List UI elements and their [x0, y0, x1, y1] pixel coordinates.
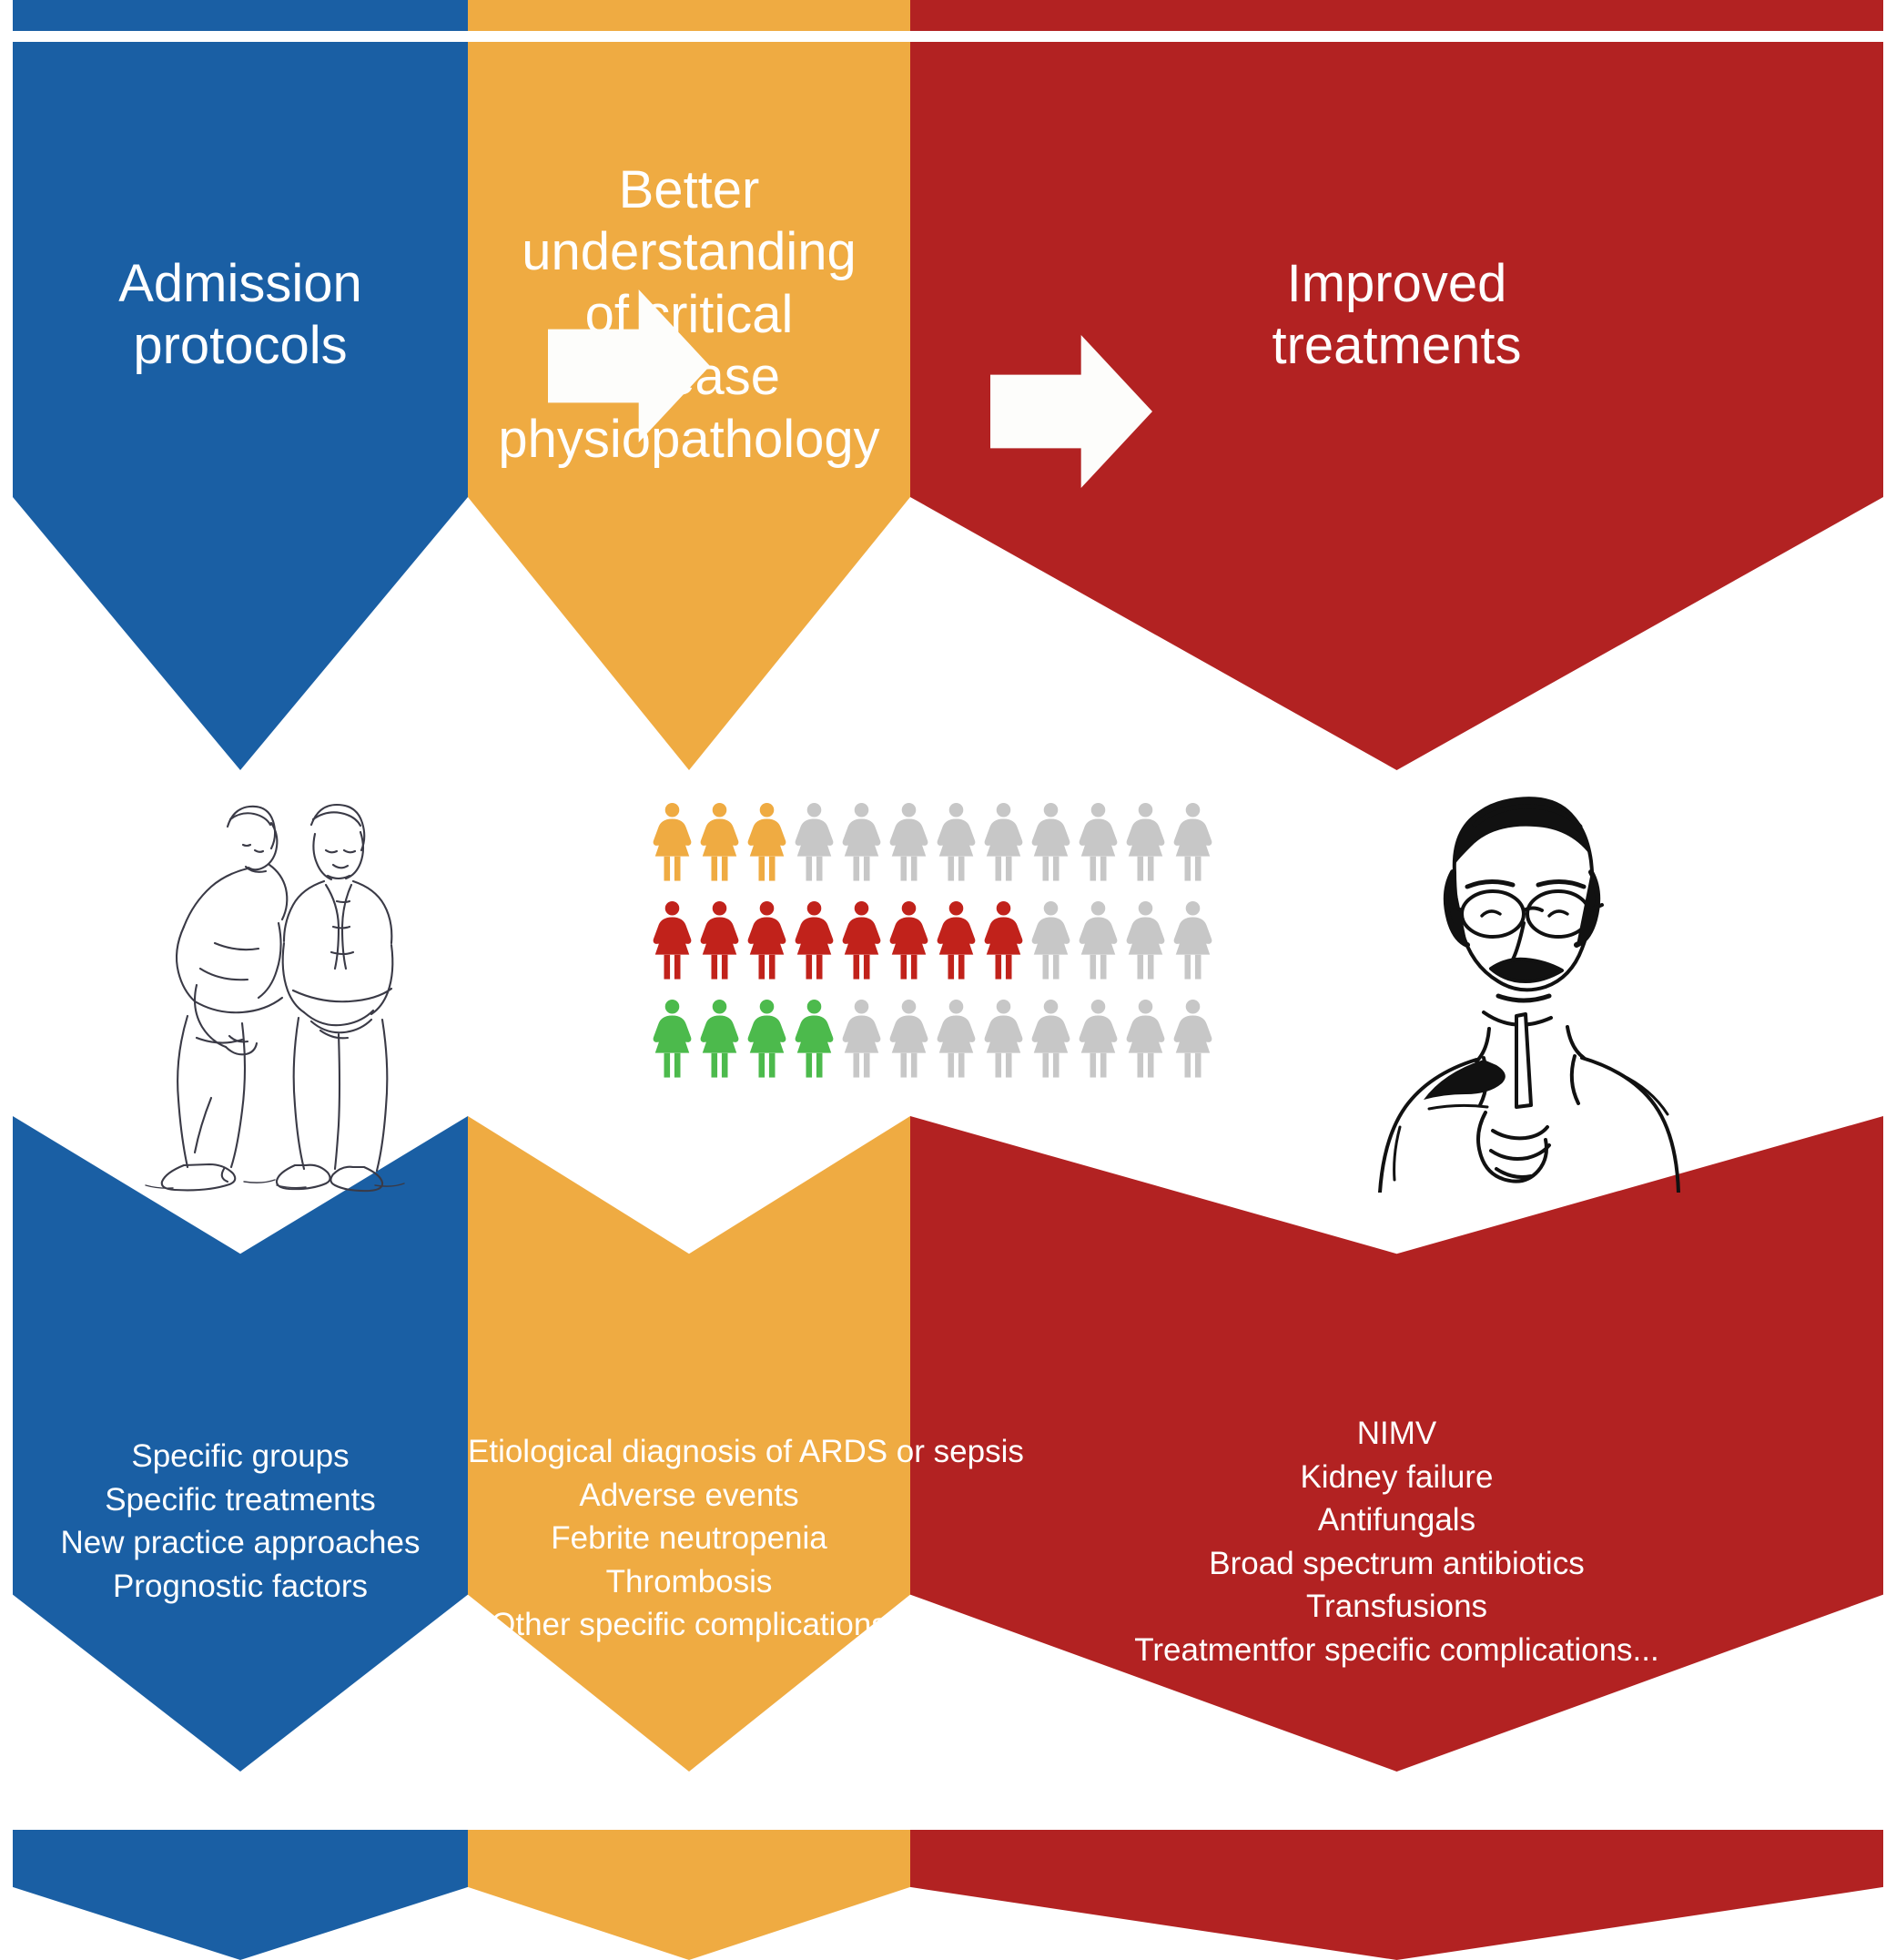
person-figure-icon	[839, 998, 884, 1080]
person-figure-icon	[981, 998, 1026, 1080]
person-figure-icon	[1076, 899, 1120, 981]
person-figure-icon	[650, 899, 695, 981]
band-upper-understanding	[468, 42, 910, 770]
pictogram-row	[650, 899, 1218, 981]
person-figure-icon	[934, 998, 978, 1080]
two-elderly-patients-sketch	[109, 774, 410, 1202]
person-figure-icon	[1123, 998, 1168, 1080]
person-figure-icon	[839, 801, 884, 883]
person-figure-icon	[1076, 998, 1120, 1080]
person-figure-icon	[1076, 801, 1120, 883]
person-figure-icon	[1029, 801, 1073, 883]
bottom-tail-admission	[13, 1830, 468, 1960]
infographic-canvas: Admission protocols Specific groups Spec…	[0, 0, 1896, 1960]
person-figure-icon	[887, 801, 931, 883]
person-figure-icon	[1029, 998, 1073, 1080]
person-figure-icon	[650, 801, 695, 883]
pictogram-row	[650, 801, 1218, 883]
person-figure-icon	[1171, 899, 1215, 981]
person-figure-icon	[839, 899, 884, 981]
person-figure-icon	[934, 899, 978, 981]
population-pictogram-grid	[650, 801, 1218, 1096]
top-cap-understanding	[468, 0, 910, 31]
person-figure-icon	[697, 899, 742, 981]
person-figure-icon	[1123, 801, 1168, 883]
doctor-with-glasses-sketch	[1347, 774, 1684, 1193]
person-figure-icon	[745, 998, 789, 1080]
person-figure-icon	[745, 899, 789, 981]
person-figure-icon	[1171, 998, 1215, 1080]
person-figure-icon	[887, 899, 931, 981]
pictogram-row	[650, 998, 1218, 1080]
person-figure-icon	[697, 998, 742, 1080]
person-figure-icon	[1171, 801, 1215, 883]
band-lower-understanding	[468, 1116, 910, 1772]
person-figure-icon	[1029, 899, 1073, 981]
person-figure-icon	[981, 899, 1026, 981]
person-figure-icon	[792, 899, 836, 981]
band-lower-treatments	[910, 1116, 1883, 1772]
band-lower-admission	[13, 1116, 468, 1772]
person-figure-icon	[981, 801, 1026, 883]
person-figure-icon	[745, 801, 789, 883]
person-figure-icon	[697, 801, 742, 883]
person-figure-icon	[1123, 899, 1168, 981]
person-figure-icon	[887, 998, 931, 1080]
person-figure-icon	[934, 801, 978, 883]
band-upper-admission	[13, 42, 468, 770]
bottom-tail-understanding	[468, 1830, 910, 1960]
person-figure-icon	[792, 998, 836, 1080]
person-figure-icon	[650, 998, 695, 1080]
bottom-tail-treatments	[910, 1830, 1883, 1960]
person-figure-icon	[792, 801, 836, 883]
top-cap-treatments	[910, 0, 1883, 31]
top-cap-admission	[13, 0, 468, 31]
